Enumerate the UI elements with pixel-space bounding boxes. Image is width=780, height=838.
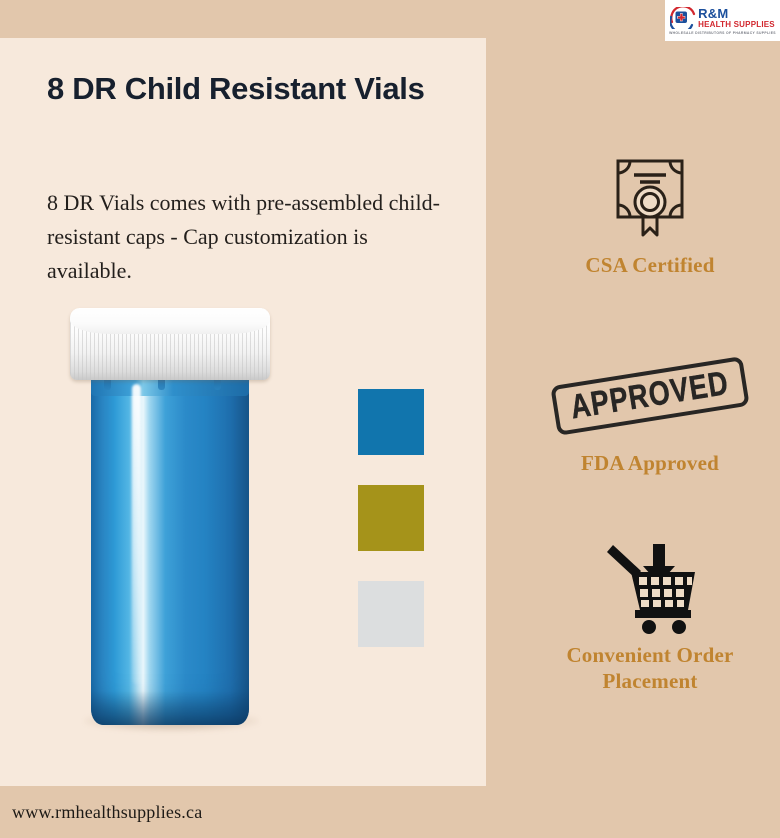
feature-csa-label: CSA Certified	[520, 252, 780, 278]
vial-body	[91, 370, 249, 725]
vial-cap-top	[70, 308, 270, 334]
product-description: 8 DR Vials comes with pre-assembled chil…	[47, 186, 442, 288]
color-swatch-olive-gold[interactable]	[358, 485, 424, 551]
feature-convenient-order: Convenient Order Placement	[520, 540, 780, 695]
footer-bar: www.rmhealthsupplies.ca	[0, 786, 780, 838]
brand-logo[interactable]: R&M HEALTH SUPPLIES WHOLESALE DISTRIBUTO…	[665, 0, 780, 41]
feature-order-label-line1: Convenient Order	[566, 643, 733, 667]
approved-stamp-icon: APPROVED	[520, 348, 780, 444]
approved-stamp-text: APPROVED	[550, 356, 749, 436]
logo-row: R&M HEALTH SUPPLIES	[670, 7, 775, 29]
certificate-icon	[520, 150, 780, 246]
logo-wordmark: R&M HEALTH SUPPLIES	[698, 7, 775, 29]
feature-order-label: Convenient Order Placement	[520, 642, 780, 695]
shopping-cart-icon	[520, 540, 780, 636]
page-title: 8 DR Child Resistant Vials	[47, 70, 447, 108]
feature-order-label-line2: Placement	[602, 669, 697, 693]
logo-tagline: WHOLESALE DISTRIBUTORS OF PHARMACY SUPPL…	[669, 31, 776, 35]
product-image	[58, 308, 283, 728]
color-swatch-light-gray[interactable]	[358, 581, 424, 647]
feature-csa-certified: CSA Certified	[520, 150, 780, 278]
website-url[interactable]: www.rmhealthsupplies.ca	[0, 802, 202, 823]
vial-highlight	[132, 384, 141, 684]
color-swatch-blue[interactable]	[358, 389, 424, 455]
feature-fda-label: FDA Approved	[520, 450, 780, 476]
color-swatch-list	[358, 389, 424, 677]
logo-brand-text: R&M	[698, 7, 728, 20]
feature-fda-approved: APPROVED FDA Approved	[520, 348, 780, 476]
medical-cross-icon	[670, 7, 696, 29]
logo-subtitle-text: HEALTH SUPPLIES	[698, 20, 775, 29]
